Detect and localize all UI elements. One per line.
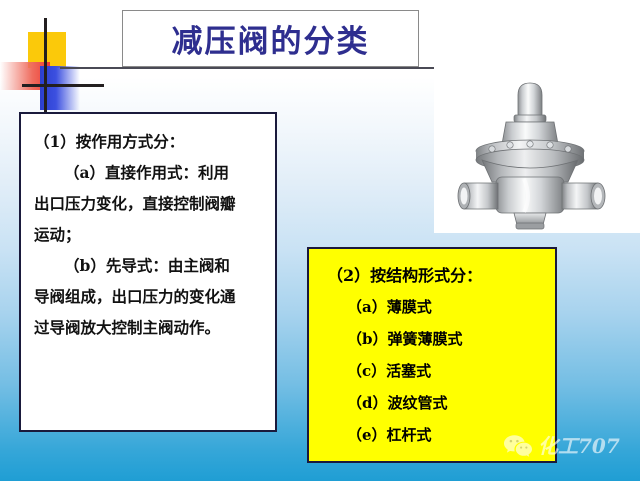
left-box-line: 出口压力变化，直接控制阀瓣 xyxy=(34,188,262,219)
title-box: 减压阀的分类 xyxy=(122,10,419,67)
yellow-box-heading: （2）按结构形式分： xyxy=(319,261,545,291)
pressure-reducing-valve-image xyxy=(434,65,640,233)
page-title: 减压阀的分类 xyxy=(172,16,370,61)
left-box-line: 导阀组成，出口压力的变化通 xyxy=(34,281,262,312)
horizontal-cross-line xyxy=(22,84,104,87)
left-box-line: 运动； xyxy=(34,219,262,250)
left-box-line: 过导阀放大控制主阀动作。 xyxy=(34,312,262,343)
classification-by-structure-box: （2）按结构形式分： （a）薄膜式 （b）弹簧薄膜式 （c）活塞式 （d）波纹管… xyxy=(307,247,557,463)
corner-decoration xyxy=(0,18,104,114)
vertical-cross-line xyxy=(44,18,47,114)
yellow-box-item: （a）薄膜式 xyxy=(319,291,545,323)
classification-by-action-box: （1）按作用方式分： （a）直接作用式：利用 出口压力变化，直接控制阀瓣 运动；… xyxy=(19,112,277,432)
left-box-line: （a）直接作用式：利用 xyxy=(34,157,262,188)
left-box-line: （1）按作用方式分： xyxy=(34,126,262,157)
slide-canvas: 减压阀的分类 （1）按作用方式分： （a）直接作用式：利用 出口压力变化，直接控… xyxy=(0,0,640,481)
yellow-box-item: （e）杠杆式 xyxy=(319,419,545,451)
left-box-line: （b）先导式：由主阀和 xyxy=(34,250,262,281)
yellow-box-item: （c）活塞式 xyxy=(319,355,545,387)
valve-photo-panel xyxy=(434,65,640,233)
yellow-box-item: （d）波纹管式 xyxy=(319,387,545,419)
yellow-box-item: （b）弹簧薄膜式 xyxy=(319,323,545,355)
